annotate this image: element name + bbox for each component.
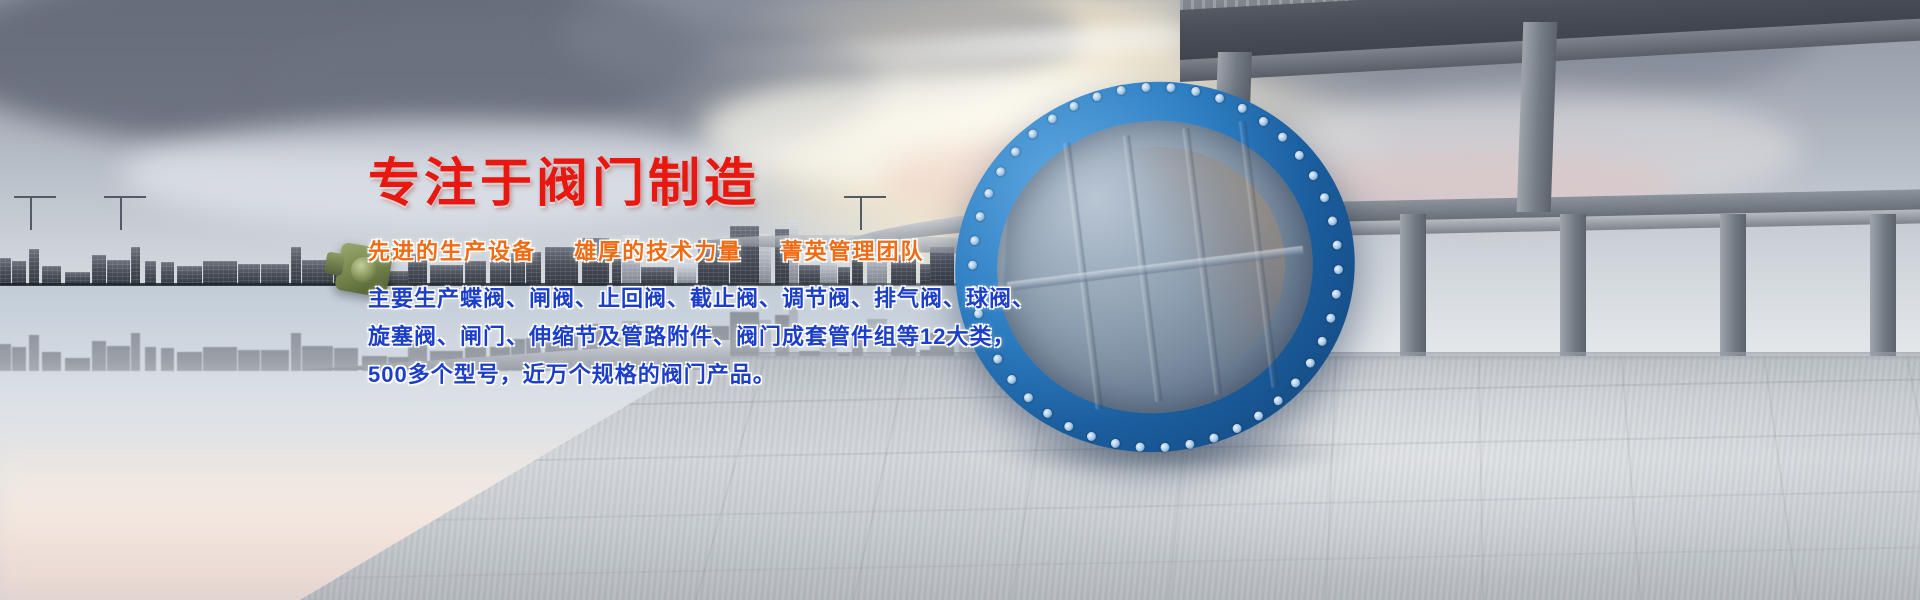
building xyxy=(131,333,140,371)
bolt-hole xyxy=(1273,395,1283,405)
building xyxy=(238,350,260,371)
building xyxy=(261,264,289,285)
bolt-hole xyxy=(1277,132,1287,142)
construction-crane xyxy=(30,196,32,230)
feature-subtitle: 先进的生产设备 雄厚的技术力量 菁英管理团队 xyxy=(368,234,968,266)
bolt-hole xyxy=(1006,374,1016,384)
description-line: 旋塞阀、闸门、伸缩节及管路附件、阀门成套管件组等12大类， xyxy=(368,318,968,356)
bolt-hole xyxy=(1063,421,1073,431)
building xyxy=(12,261,26,285)
product-description: 主要生产蝶阀、闸阀、止回阀、截止阀、调节阀、排气阀、球阀、 旋塞阀、闸门、伸缩节… xyxy=(368,280,968,394)
bolt-hole xyxy=(1294,150,1304,160)
bolt-hole xyxy=(1116,85,1126,95)
bolt-hole xyxy=(1092,91,1102,101)
bolt-hole xyxy=(1184,439,1194,449)
overpass-pier xyxy=(1560,214,1586,362)
building xyxy=(42,352,61,371)
overpass-pier xyxy=(1720,214,1746,360)
bolt-hole xyxy=(969,235,979,245)
description-line: 500多个型号，近万个规格的阀门产品。 xyxy=(368,356,968,394)
bolt-hole xyxy=(1333,264,1343,274)
building xyxy=(161,348,174,371)
construction-crane xyxy=(120,196,122,230)
bolt-hole xyxy=(1258,116,1268,126)
building xyxy=(203,261,237,285)
building xyxy=(238,264,260,285)
building xyxy=(131,247,140,285)
hero-banner: 专注于阀门制造 先进的生产设备 雄厚的技术力量 菁英管理团队 主要生产蝶阀、闸阀… xyxy=(0,0,1920,600)
overpass-pier xyxy=(1400,214,1426,364)
bolt-hole xyxy=(1068,101,1078,111)
butterfly-valve-product xyxy=(934,59,1376,475)
building xyxy=(302,346,333,371)
description-line: 主要生产蝶阀、闸阀、止回阀、截止阀、调节阀、排气阀、球阀、 xyxy=(368,280,968,318)
bolt-hole xyxy=(1332,240,1342,250)
banner-copy: 专注于阀门制造 先进的生产设备 雄厚的技术力量 菁英管理团队 主要生产蝶阀、闸阀… xyxy=(368,158,968,394)
building xyxy=(203,347,237,371)
bolt-hole xyxy=(1290,377,1300,387)
bolt-hole xyxy=(1140,82,1150,92)
building xyxy=(177,352,202,371)
bolt-hole xyxy=(1047,113,1057,123)
bolt-hole xyxy=(1042,408,1052,418)
building xyxy=(145,261,156,285)
bolt-hole xyxy=(1308,170,1318,180)
building xyxy=(92,341,106,371)
bolt-hole xyxy=(975,211,985,221)
bolt-hole xyxy=(1305,358,1315,368)
bolt-hole xyxy=(1237,103,1247,113)
building xyxy=(107,260,130,285)
overpass-pier xyxy=(1870,214,1896,360)
building xyxy=(161,262,174,285)
bolt-hole xyxy=(1086,431,1096,441)
bolt-hole xyxy=(1319,192,1329,202)
bolt-hole xyxy=(967,260,977,270)
building xyxy=(29,335,39,371)
bolt-hole xyxy=(1159,442,1169,452)
feature-item-1: 先进的生产设备 xyxy=(368,239,536,264)
bolt-hole xyxy=(1135,442,1145,452)
building xyxy=(65,358,90,371)
bolt-hole xyxy=(1010,146,1020,156)
building xyxy=(92,255,106,285)
page-title: 专注于阀门制造 xyxy=(368,158,968,210)
bolt-hole xyxy=(1325,313,1335,323)
bolt-hole xyxy=(1253,411,1263,421)
bolt-hole xyxy=(1023,392,1033,402)
building xyxy=(0,344,11,371)
bolt-hole xyxy=(1214,93,1224,103)
bolt-hole xyxy=(1110,438,1120,448)
building xyxy=(29,249,39,285)
bolt-hole xyxy=(1232,423,1242,433)
building xyxy=(145,347,156,371)
bolt-hole xyxy=(1331,289,1341,299)
bolt-hole xyxy=(1327,216,1337,226)
feature-item-3: 菁英管理团队 xyxy=(781,239,925,264)
building xyxy=(291,333,301,371)
bolt-hole xyxy=(1208,433,1218,443)
bolt-hole xyxy=(1190,86,1200,96)
building xyxy=(12,347,26,371)
bolt-hole xyxy=(1165,82,1175,92)
building xyxy=(291,247,301,285)
bolt-hole xyxy=(983,188,993,198)
building xyxy=(261,350,289,371)
overpass-column xyxy=(1517,22,1558,212)
feature-item-2: 雄厚的技术力量 xyxy=(574,239,742,264)
bolt-hole xyxy=(1027,129,1037,139)
building xyxy=(107,346,130,371)
bolt-hole xyxy=(992,354,1002,364)
bolt-hole xyxy=(995,166,1005,176)
building xyxy=(0,258,11,285)
bolt-hole xyxy=(1317,336,1327,346)
